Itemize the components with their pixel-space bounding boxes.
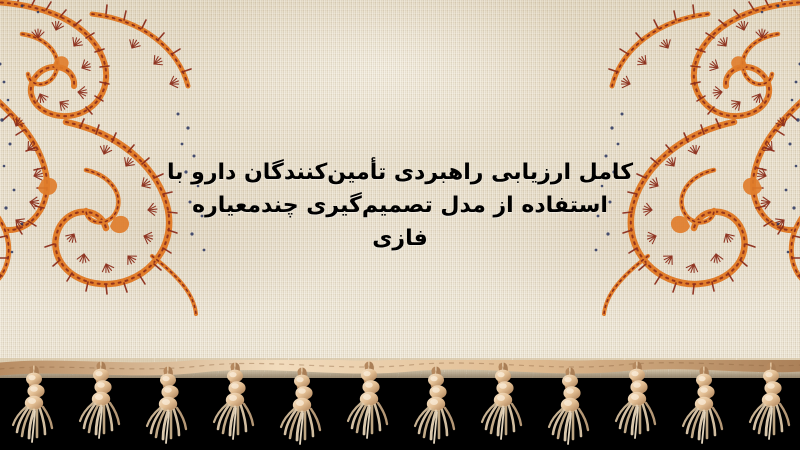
title-line-3: فازی: [0, 222, 800, 255]
title-slide: کامل ارزیابی راهبردی تأمین‌کنندگان دارو …: [0, 0, 800, 450]
title-line-1: کامل ارزیابی راهبردی تأمین‌کنندگان دارو …: [0, 156, 800, 189]
page-title: کامل ارزیابی راهبردی تأمین‌کنندگان دارو …: [0, 156, 800, 255]
title-line-2: استفاده از مدل تصمیم‌گیری چندمعیاره: [0, 189, 800, 222]
tassel-fringe: [0, 360, 800, 450]
